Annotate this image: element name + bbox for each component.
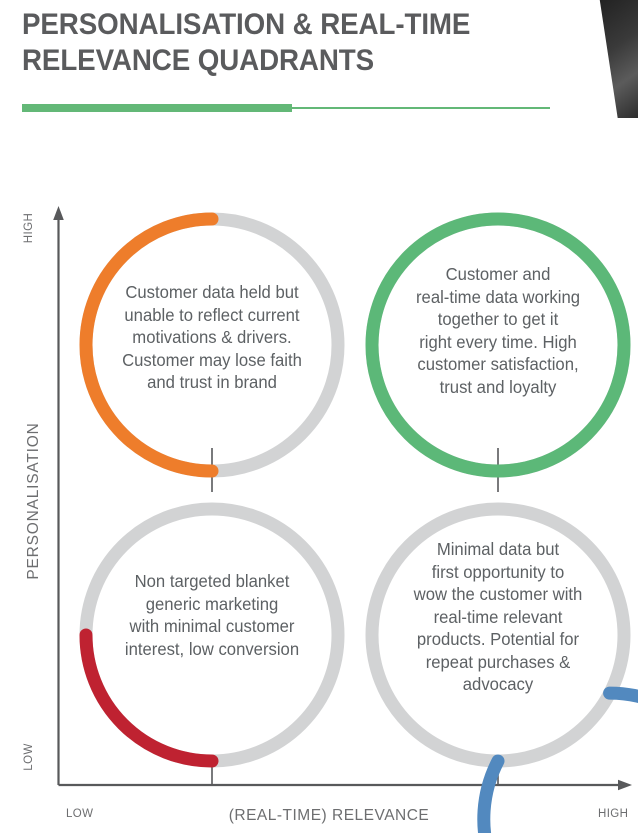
quadrant-bottom-right-text: Minimal data but first opportunity to wo… xyxy=(384,538,613,696)
quadrant-chart: Customer data held but unable to reflect… xyxy=(0,0,638,833)
y-axis-title: PERSONALISATION xyxy=(25,421,43,581)
quadrant-chart-svg xyxy=(0,0,638,833)
quadrant-top-left-text: Customer data held but unable to reflect… xyxy=(96,281,329,394)
y-axis-low-label: LOW xyxy=(23,731,35,783)
quadrant-bottom-left-text: Non targeted blanket generic marketing w… xyxy=(96,570,329,660)
x-axis-high-label: HIGH xyxy=(598,808,628,820)
y-axis-arrowhead xyxy=(53,206,64,220)
x-axis-title: (REAL-TIME) RELEVANCE xyxy=(159,807,499,825)
x-axis-low-label: LOW xyxy=(66,808,93,820)
quadrant-top-right-text: Customer and real-time data working toge… xyxy=(384,263,613,398)
x-axis-arrowhead xyxy=(618,780,632,790)
y-axis-high-label: HIGH xyxy=(23,202,35,254)
